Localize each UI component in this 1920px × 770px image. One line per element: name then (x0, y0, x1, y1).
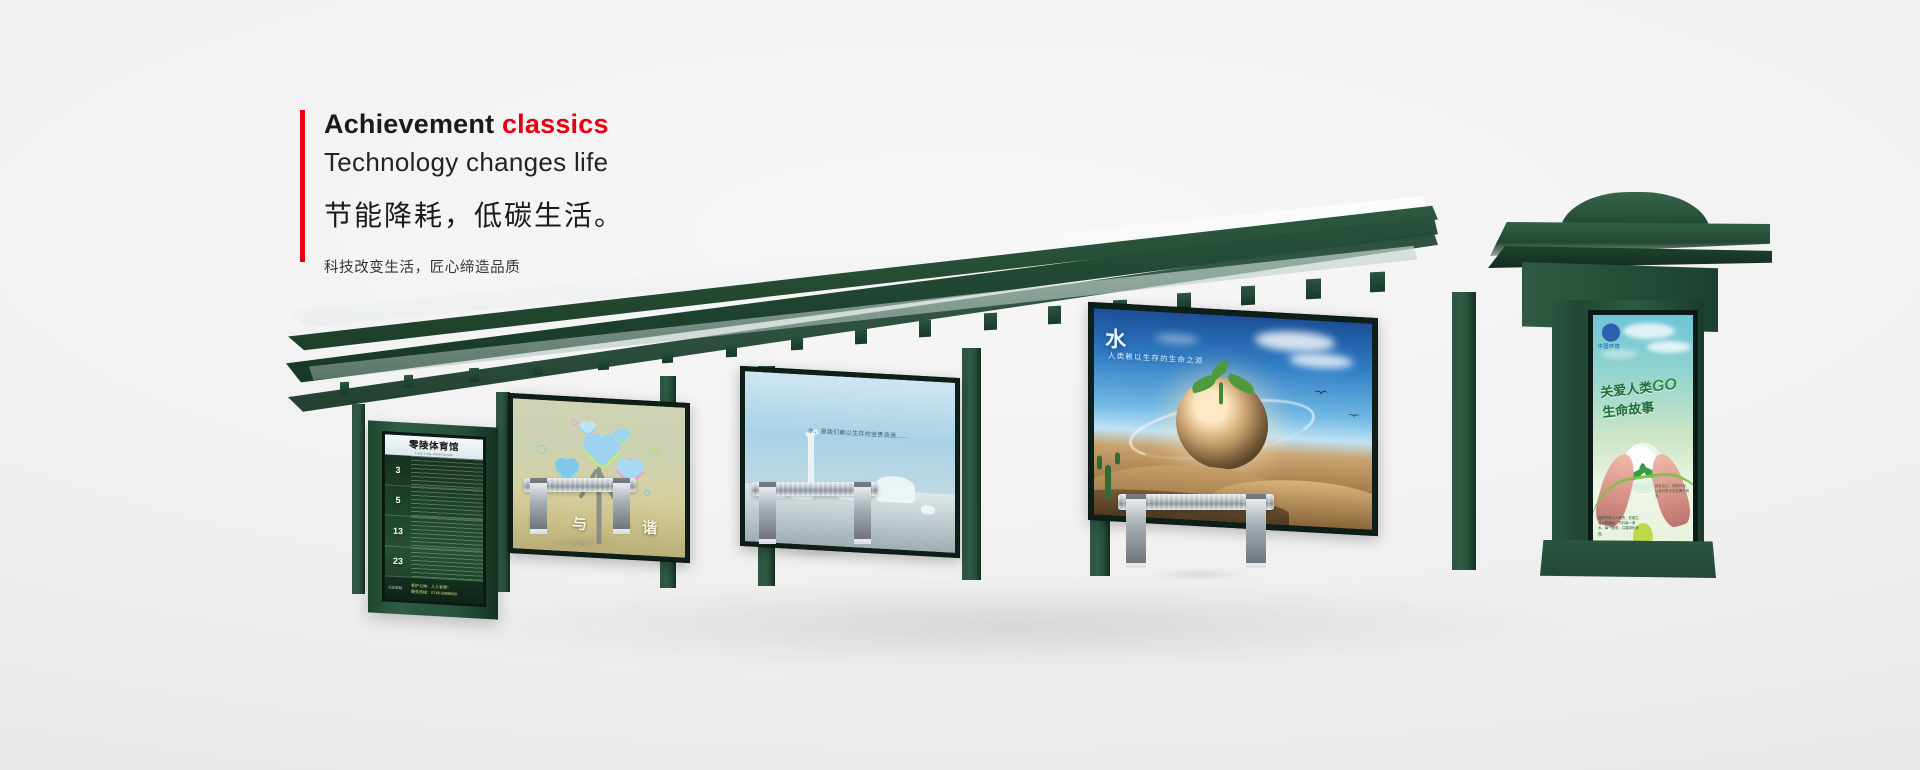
eco-title-badge: GO (1651, 376, 1678, 396)
canopy-rib (1048, 306, 1061, 325)
eco-cloud-1 (1623, 323, 1675, 339)
bench-leg-left (759, 482, 776, 544)
schedule-footer: 公交车标 爱护公物，人人有责！ 服务热线：0746-8888888 (385, 576, 483, 603)
canopy-rib (533, 361, 543, 376)
schedule-screen-frame: 零陵体育馆 Ling Ling Gymnasium 351323 公交车标 爱护… (382, 431, 486, 607)
footer-notice-line2: 服务热线：0746-8888888 (411, 589, 457, 598)
canopy-rib (598, 354, 609, 369)
support-post-1 (352, 404, 365, 594)
cactus-arm-right (1115, 452, 1120, 464)
eco-cloud-3 (1601, 349, 1637, 359)
schedule-display: 零陵体育馆 Ling Ling Gymnasium 351323 公交车标 爱护… (385, 434, 483, 603)
canopy-rib (919, 320, 931, 338)
route-number: 3 (385, 464, 411, 475)
canopy-rib (1241, 285, 1255, 305)
route-row-list: 351323 (385, 454, 483, 581)
bus-shelter: 零陵体育馆 Ling Ling Gymnasium 351323 公交车标 爱护… (0, 0, 1920, 770)
bench-1 (524, 478, 636, 534)
eco-cloud-2 (1647, 341, 1691, 353)
route-stop-strip (411, 486, 483, 520)
bench-3 (1118, 494, 1274, 568)
sprout-plant (1187, 361, 1257, 411)
footer-text-group: 爱护公物，人人有责！ 服务热线：0746-8888888 (411, 583, 457, 598)
route-stop-strip (411, 456, 483, 490)
route-number: 5 (385, 495, 411, 506)
sprout-leaf-2 (1226, 373, 1257, 395)
sprout-stem (1219, 383, 1223, 405)
canopy-rib (984, 313, 997, 331)
bench-shadow-3 (1124, 570, 1272, 579)
canopy-rib (404, 375, 413, 389)
pylon-base (1540, 540, 1716, 578)
bench-leg-left (530, 478, 547, 534)
support-post-5 (962, 348, 981, 580)
bubble-1 (537, 445, 546, 455)
route-number: 23 (385, 556, 411, 567)
bench-shadow-2 (758, 548, 876, 557)
bench-leg-left (1126, 494, 1146, 568)
support-post-7 (1452, 292, 1476, 570)
canopy-rib (340, 382, 349, 396)
eco-title-line1: 关爱人类 (1600, 380, 1653, 400)
artwork-eco-poster: 中国环境 关爱人类GO 生命故事 保护环境人人有责，低碳生活从我做起，节约每一滴… (1593, 315, 1693, 555)
bubble-5 (571, 419, 577, 425)
cloud-3 (1155, 332, 1199, 344)
cactus-arm-left (1097, 455, 1102, 469)
route-number: 13 (385, 525, 411, 536)
bubble-3 (651, 448, 659, 456)
canopy-rib (791, 334, 803, 351)
canopy-rib (469, 368, 479, 382)
canopy-rib (1306, 278, 1321, 298)
bench-leg-right (613, 478, 630, 534)
eco-title-line2: 生命故事 (1602, 399, 1655, 419)
eco-body-text-right: 绿色出行，低碳环保，让我们携手共创美好明天。 (1655, 484, 1689, 499)
bird-1 (1314, 391, 1328, 398)
cactus-stem (1105, 464, 1111, 498)
route-stop-strip (411, 547, 483, 581)
animal-elephant (875, 475, 915, 503)
bench-shadow-1 (528, 538, 634, 547)
bench-leg-right (854, 482, 871, 544)
eco-body-text-left: 保护环境人人有责，低碳生活从我做起，节约每一滴水，每一度电，共建绿色家园。 (1598, 516, 1642, 537)
heart-large-center (583, 434, 620, 471)
route-stop-strip (411, 517, 483, 551)
canopy-rib (1370, 272, 1385, 293)
canopy-rib (855, 327, 867, 344)
footer-badge: 公交车标 (388, 585, 408, 591)
canopy-rib (726, 340, 737, 356)
cloud-1 (1255, 330, 1335, 354)
bench-2 (752, 482, 878, 544)
canopy-rib (662, 347, 673, 363)
bird-2 (1348, 414, 1359, 419)
panel-caption-water-animals: 水，是我们赖以生存的宝贵资源…… (808, 426, 909, 441)
eco-logo-label: 中国环境 (1598, 343, 1620, 350)
animal-cub (921, 505, 935, 515)
bus-schedule-board[interactable]: 零陵体育馆 Ling Ling Gymnasium 351323 公交车标 爱护… (368, 420, 498, 619)
eco-poster-title: 关爱人类GO 生命故事 (1599, 372, 1693, 421)
ad-panel-eco-poster[interactable]: 中国环境 关爱人类GO 生命故事 保护环境人人有责，低碳生活从我做起，节约每一滴… (1588, 310, 1698, 560)
bubble-4 (644, 490, 650, 496)
bench-leg-right (1246, 494, 1266, 568)
cloud-2 (1289, 352, 1353, 370)
